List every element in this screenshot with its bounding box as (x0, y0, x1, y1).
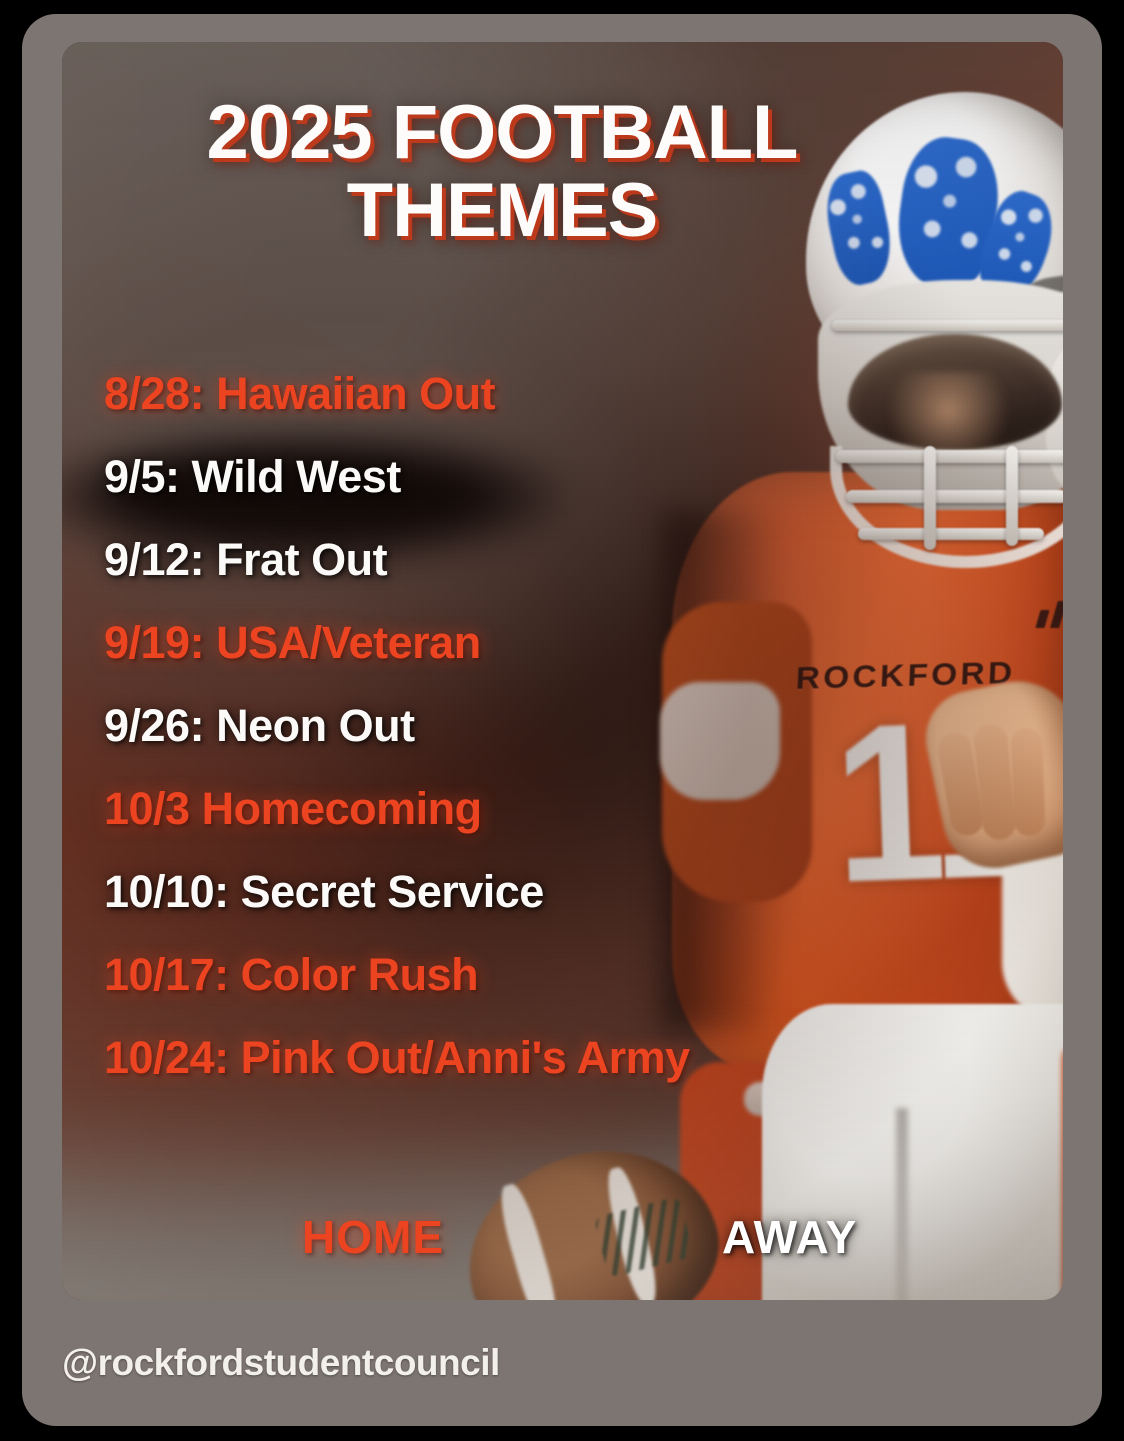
venue-legend: HOME AWAY (124, 1210, 1024, 1272)
theme-label: 10/10: Secret Service (104, 866, 544, 918)
poster-card: ROCKFORD 11 (22, 14, 1102, 1426)
theme-label: 10/17: Color Rush (104, 949, 478, 1001)
theme-label: 10/24: Pink Out/Anni's Army (104, 1032, 690, 1084)
poster-footer: @rockfordstudentcouncil (62, 1328, 1063, 1398)
list-item: 10/3 Homecoming (104, 767, 964, 850)
list-item: 10/17: Color Rush (104, 933, 964, 1016)
legend-home-label: HOME (302, 1210, 444, 1264)
theme-label: 8/28: Hawaiian Out (104, 368, 495, 420)
list-item: 9/26: Neon Out (104, 684, 964, 767)
list-item: 10/10: Secret Service (104, 850, 964, 933)
theme-schedule-list: 8/28: Hawaiian Out 9/5: Wild West 9/12: … (104, 352, 964, 1099)
theme-label: 9/26: Neon Out (104, 700, 415, 752)
list-item: 10/24: Pink Out/Anni's Army (104, 1016, 964, 1099)
list-item: 9/5: Wild West (104, 435, 964, 518)
theme-label: 9/5: Wild West (104, 451, 401, 503)
list-item: 9/12: Frat Out (104, 518, 964, 601)
poster-text-overlay: 2025 FOOTBALL THEMES 8/28: Hawaiian Out … (62, 42, 1063, 1300)
instagram-handle: @rockfordstudentcouncil (62, 1342, 500, 1384)
poster-photo: ROCKFORD 11 (62, 42, 1063, 1300)
legend-away-label: AWAY (722, 1210, 857, 1264)
list-item: 8/28: Hawaiian Out (104, 352, 964, 435)
theme-label: 10/3 Homecoming (104, 783, 482, 835)
theme-label: 9/12: Frat Out (104, 534, 387, 586)
page-title: 2025 FOOTBALL THEMES (122, 94, 882, 249)
list-item: 9/19: USA/Veteran (104, 601, 964, 684)
theme-label: 9/19: USA/Veteran (104, 617, 481, 669)
